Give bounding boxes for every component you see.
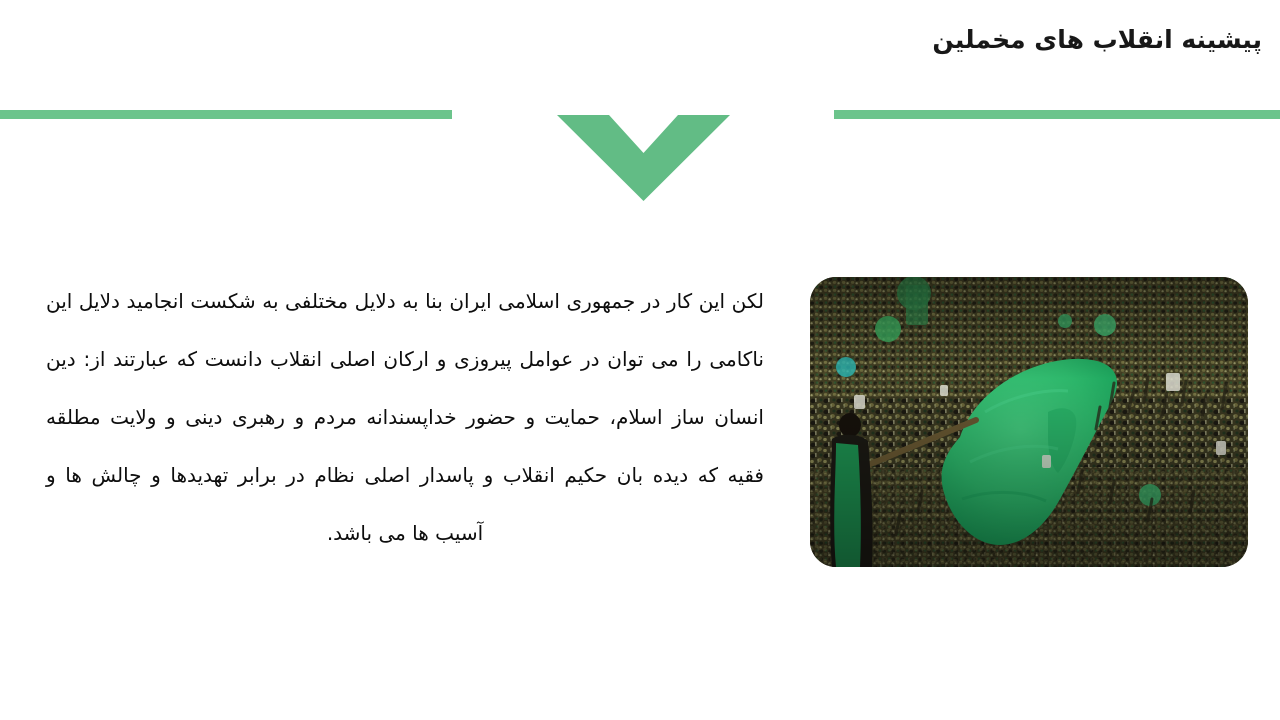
page-title: پیشینه انقلاب های مخملین [502, 22, 1262, 57]
body-paragraph: لکن این کار در جمهوری اسلامی ایران بنا ب… [46, 272, 764, 562]
crowd-photo [810, 277, 1248, 567]
slide-canvas: پیشینه انقلاب های مخملین لکن این کار در … [0, 0, 1280, 720]
green-divider-right [834, 110, 1280, 119]
chevron-down-icon [557, 113, 730, 203]
green-divider-left [0, 110, 452, 119]
